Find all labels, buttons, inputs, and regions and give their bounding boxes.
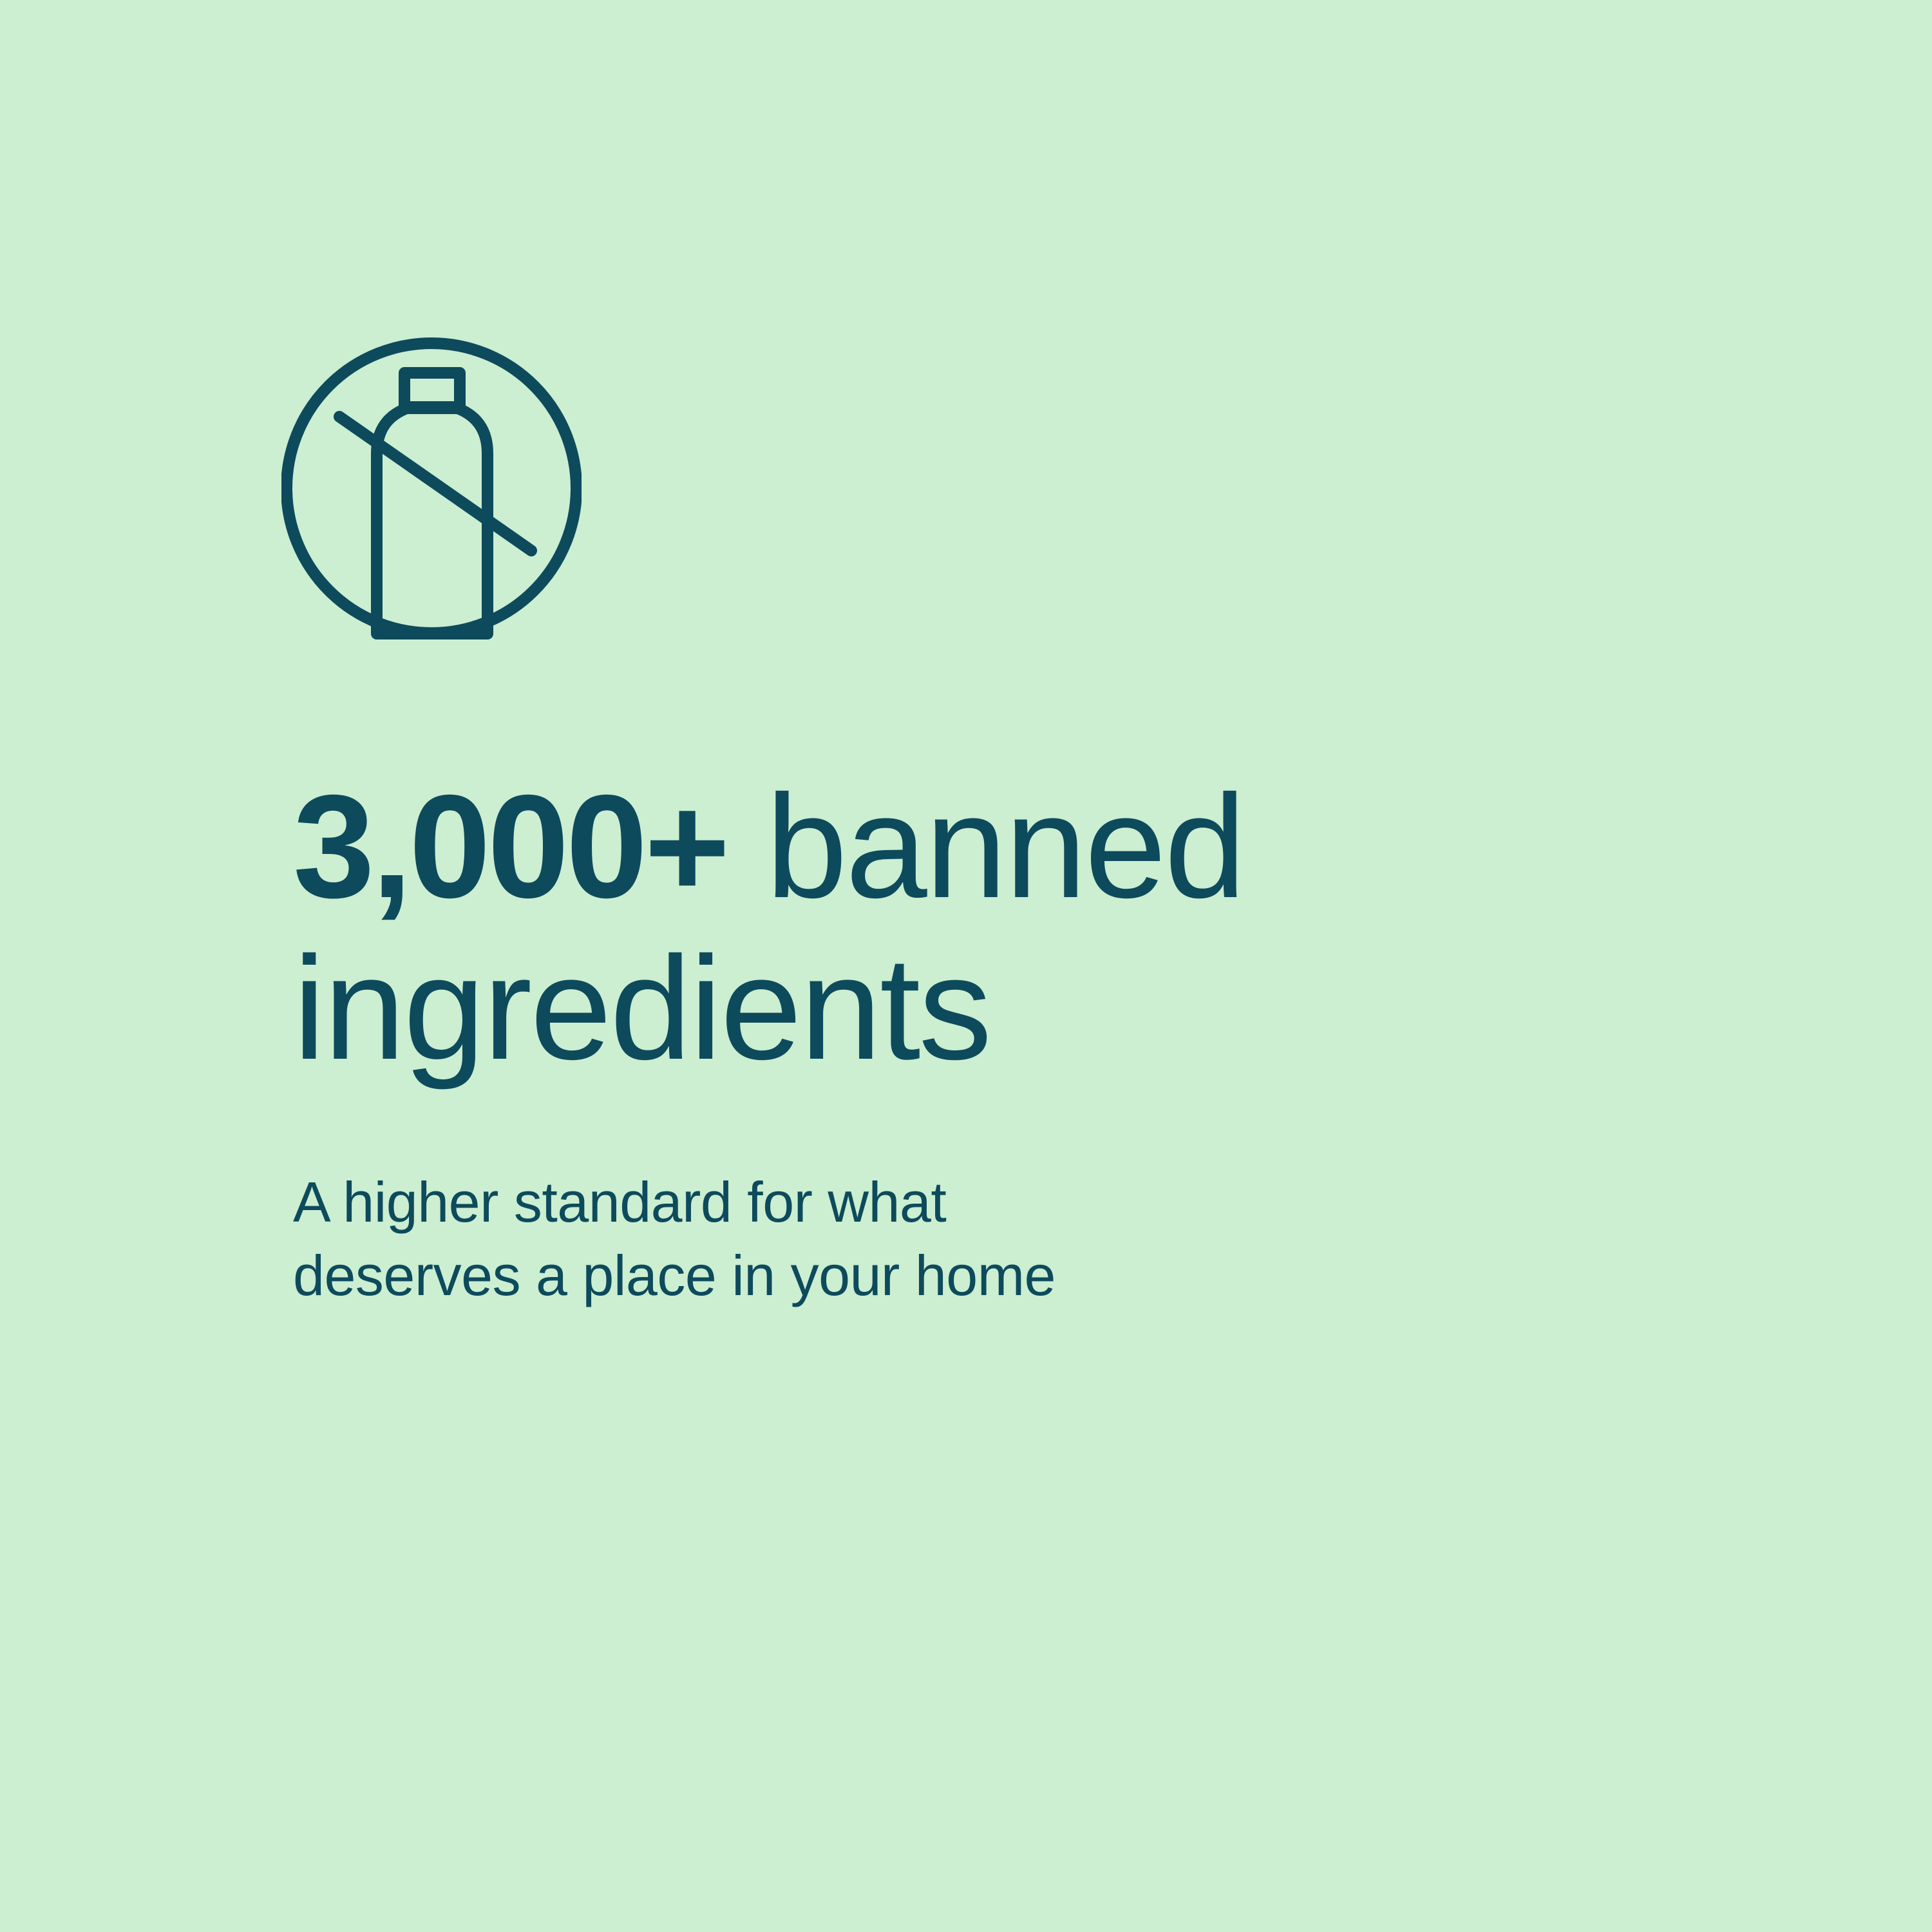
headline-emphasis: 3,000+: [293, 765, 727, 929]
promo-card: 3,000+ banned ingredients A higher stand…: [0, 0, 1932, 1932]
bottle-cap: [404, 373, 460, 408]
circle-outline: [287, 343, 576, 633]
page-title: 3,000+ banned ingredients: [293, 766, 1774, 1090]
no-bottle-icon: [281, 331, 582, 647]
bottle-silhouette: [377, 407, 488, 634]
diagonal-slash: [339, 417, 531, 551]
page-subtitle: A higher standard for what deserves a pl…: [293, 1090, 1774, 1313]
text-block: 3,000+ banned ingredients A higher stand…: [293, 766, 1774, 1312]
